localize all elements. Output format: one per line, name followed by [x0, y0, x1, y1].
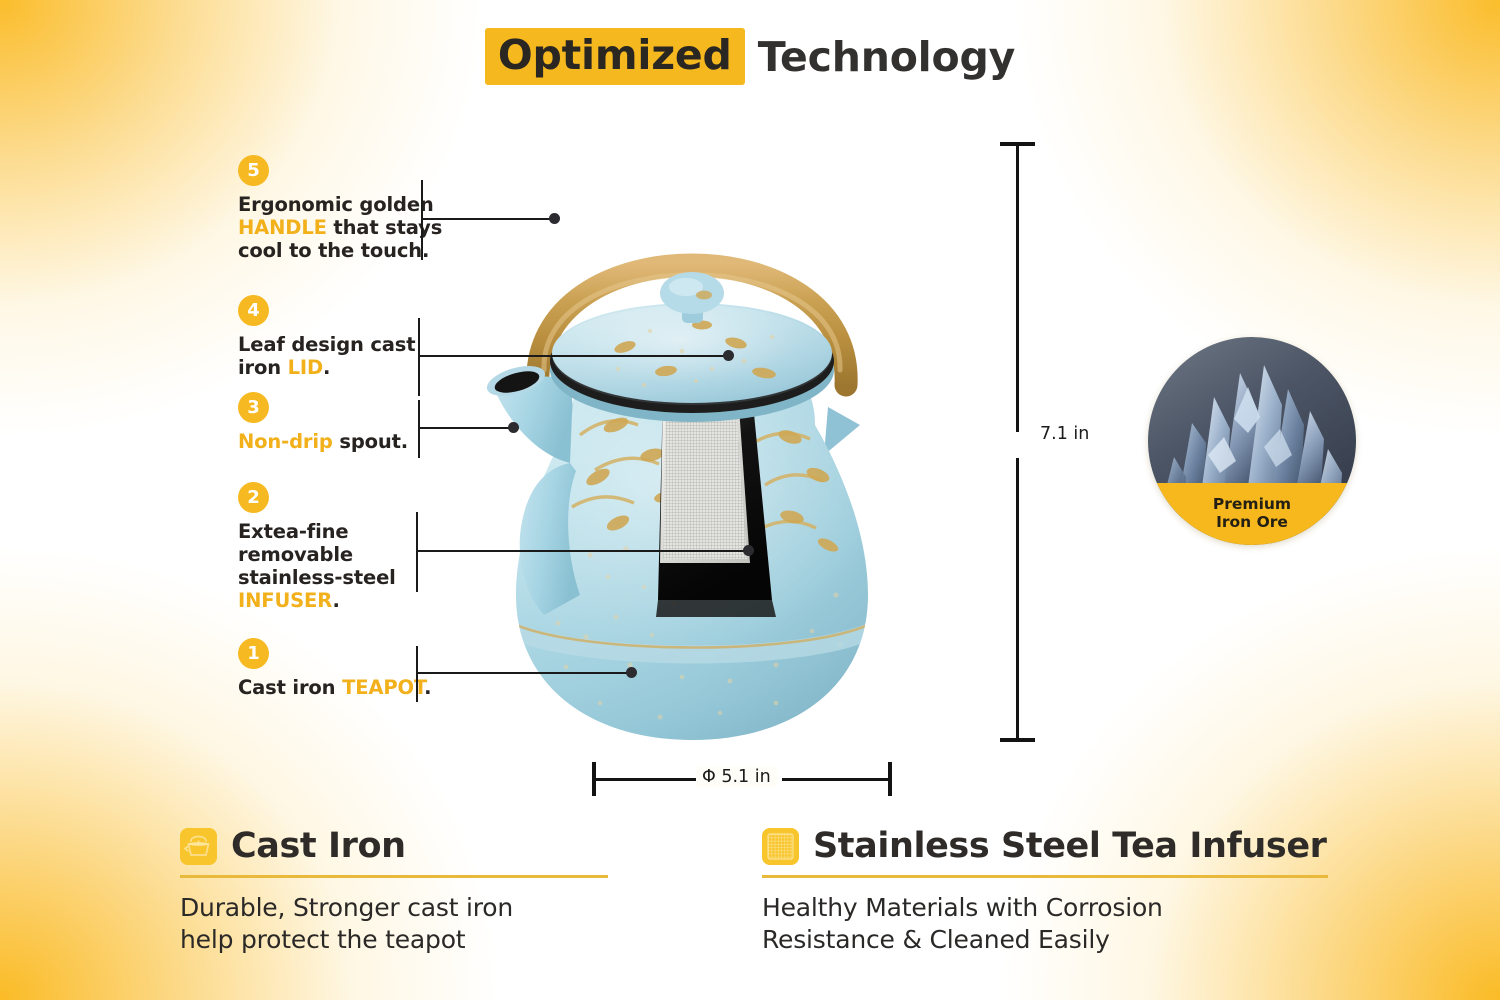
- callout-badge-4: 4: [238, 295, 269, 326]
- leader-line-4: [418, 318, 748, 396]
- callout-badge-2: 2: [238, 482, 269, 513]
- callout-2-line1: Extea-fine: [238, 520, 348, 543]
- leader-line-3: [418, 400, 533, 458]
- callout-badge-5: 5: [238, 155, 269, 186]
- callout-4-lid-kw: LID: [288, 356, 323, 379]
- page-title: OptimizedTechnology: [0, 28, 1500, 85]
- title-highlight: Optimized: [485, 28, 745, 85]
- callout-4-line2a: iron: [238, 356, 288, 379]
- mesh-grid-icon: [762, 828, 799, 865]
- feature-tea-infuser-desc: Healthy Materials with Corrosion Resista…: [762, 892, 1328, 955]
- callout-1-teapot-kw: TEAPOT: [342, 676, 424, 699]
- callout-2-line4b: .: [332, 589, 339, 612]
- feature-cast-iron-rule: [180, 875, 608, 878]
- feature-cast-iron-desc: Durable, Stronger cast iron help protect…: [180, 892, 608, 955]
- callout-5-handle-kw: HANDLE: [238, 216, 327, 239]
- feature-tea-infuser-desc-line1: Healthy Materials with Corrosion: [762, 892, 1328, 924]
- callout-5[interactable]: 5 Ergonomic golden HANDLE that stays coo…: [238, 155, 443, 262]
- ore-badge-band: Premium Iron Ore: [1148, 483, 1356, 545]
- feature-tea-infuser-desc-line2: Resistance & Cleaned Easily: [762, 924, 1328, 956]
- diameter-dimension-label: Φ 5.1 in: [696, 767, 777, 787]
- ore-badge-line1: Premium: [1213, 496, 1291, 514]
- title-rest: Technology: [758, 33, 1015, 81]
- leader-line-1: [416, 646, 651, 702]
- callout-4-line1: Leaf design cast: [238, 333, 415, 356]
- feature-cast-iron-desc-line2: help protect the teapot: [180, 924, 608, 956]
- callout-text-2: Extea-fine removable stainless-steel INF…: [238, 520, 418, 612]
- callout-badge-1: 1: [238, 638, 269, 669]
- cast-iron-teapot-icon: [180, 828, 217, 865]
- callout-text-4: Leaf design cast iron LID.: [238, 333, 438, 379]
- callout-5-line1: Ergonomic golden: [238, 193, 434, 216]
- callout-badge-3: 3: [238, 392, 269, 423]
- callout-2[interactable]: 2 Extea-fine removable stainless-steel I…: [238, 482, 418, 612]
- leader-line-5: [421, 180, 571, 260]
- feature-cast-iron: Cast Iron Durable, Stronger cast iron he…: [180, 826, 608, 955]
- callout-4[interactable]: 4 Leaf design cast iron LID.: [238, 295, 438, 379]
- premium-iron-ore-badge: Premium Iron Ore: [1148, 337, 1356, 545]
- feature-cast-iron-title: Cast Iron: [231, 826, 406, 866]
- callout-4-line2c: .: [323, 356, 330, 379]
- callout-text-5: Ergonomic golden HANDLE that stays cool …: [238, 193, 443, 262]
- feature-tea-infuser-rule: [762, 875, 1328, 878]
- ore-badge-line2: Iron Ore: [1216, 514, 1288, 532]
- callout-1-line1a: Cast iron: [238, 676, 342, 699]
- callout-2-line2: removable: [238, 543, 353, 566]
- feature-tea-infuser-title: Stainless Steel Tea Infuser: [813, 826, 1327, 866]
- callout-5-line3: cool to the touch.: [238, 239, 429, 262]
- callout-2-infuser-kw: INFUSER: [238, 589, 332, 612]
- feature-tea-infuser: Stainless Steel Tea Infuser Healthy Mate…: [762, 826, 1328, 955]
- height-dimension: 7.1 in: [1000, 142, 1130, 742]
- callout-2-line3: stainless-steel: [238, 566, 396, 589]
- leader-line-2: [416, 512, 766, 592]
- diameter-dimension: Φ 5.1 in: [592, 762, 892, 798]
- feature-cast-iron-desc-line1: Durable, Stronger cast iron: [180, 892, 608, 924]
- callout-3-line1b: spout.: [333, 430, 408, 453]
- callout-3-nondrip-kw: Non-drip: [238, 430, 333, 453]
- height-dimension-label: 7.1 in: [1040, 424, 1089, 444]
